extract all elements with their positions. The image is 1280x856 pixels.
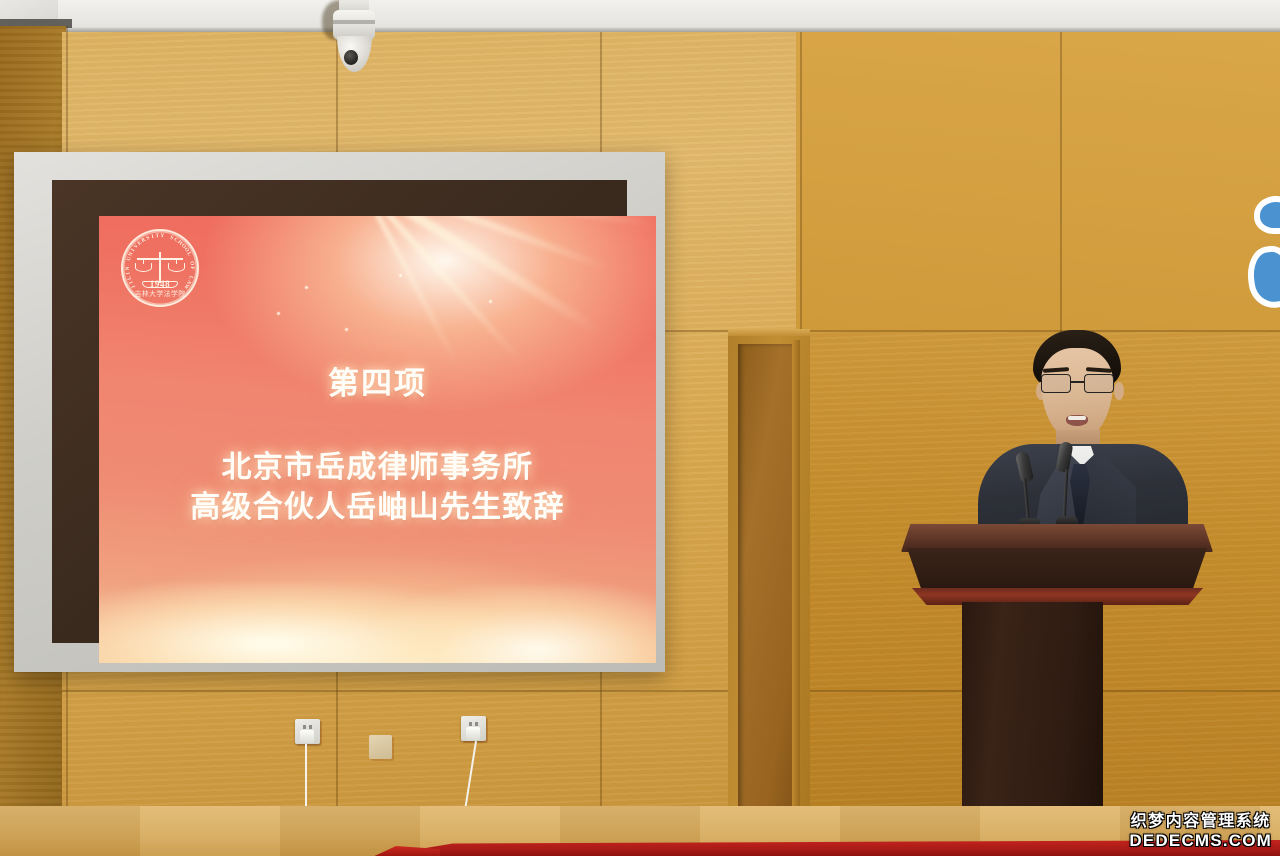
slide-bottom-glow-2 bbox=[329, 585, 656, 663]
slide-logo-year: 1948 bbox=[123, 279, 197, 289]
door-leaf[interactable] bbox=[738, 344, 795, 856]
wall-outlet-left bbox=[295, 719, 320, 744]
wall-right-upper-panel bbox=[796, 32, 1280, 332]
slide-subtitle-line-1: 北京市岳成律师事务所 bbox=[99, 448, 656, 488]
blue-wall-logo bbox=[1248, 196, 1280, 314]
glasses-icon bbox=[1040, 374, 1115, 394]
security-camera bbox=[325, 0, 381, 80]
photo-scene: JILIN UNIVERSITY SCHOOL OF LAW 1948 吉林大学… bbox=[0, 0, 1280, 856]
slide-subtitle: 北京市岳成律师事务所 高级合伙人岳岫山先生致辞 bbox=[99, 448, 656, 528]
wall-blank-plate bbox=[369, 735, 392, 759]
wall-outlet-right bbox=[461, 716, 486, 741]
blue-logo-upper-petal bbox=[1254, 196, 1280, 234]
slide-section-number: 第四项 bbox=[99, 358, 656, 403]
sparkle bbox=[399, 274, 402, 277]
power-plug bbox=[466, 727, 480, 740]
sparkle bbox=[305, 286, 308, 289]
sparkle bbox=[489, 300, 492, 303]
projection-screen-surface: JILIN UNIVERSITY SCHOOL OF LAW 1948 吉林大学… bbox=[99, 216, 656, 663]
slide-law-school-logo: JILIN UNIVERSITY SCHOOL OF LAW 1948 吉林大学… bbox=[121, 229, 199, 307]
camera-lens-icon bbox=[344, 50, 358, 65]
slide-logo-chinese: 吉林大学法学院 bbox=[123, 289, 197, 299]
microphone-neck bbox=[1023, 478, 1030, 522]
microphone-left bbox=[1018, 452, 1048, 536]
projection-screen-frame: JILIN UNIVERSITY SCHOOL OF LAW 1948 吉林大学… bbox=[14, 152, 665, 672]
speaker-face bbox=[1041, 348, 1113, 440]
microphone-right bbox=[1052, 442, 1082, 536]
microphone-neck bbox=[1063, 469, 1069, 521]
projection-screen-bezel: JILIN UNIVERSITY SCHOOL OF LAW 1948 吉林大学… bbox=[52, 180, 627, 643]
light-ray bbox=[394, 216, 603, 336]
speaker-mouth bbox=[1066, 415, 1088, 426]
power-plug bbox=[300, 730, 314, 743]
blue-logo-lower-petal bbox=[1244, 243, 1280, 311]
camera-ring bbox=[333, 20, 375, 24]
door-edge-trim bbox=[792, 340, 800, 856]
light-ray bbox=[419, 216, 609, 271]
podium-top-surface bbox=[901, 524, 1213, 552]
sparkle bbox=[345, 328, 348, 331]
slide-subtitle-line-2: 高级合伙人岳岫山先生致辞 bbox=[99, 488, 656, 528]
wall-seam bbox=[62, 690, 802, 692]
sparkle bbox=[277, 312, 280, 315]
speaker-ear-right bbox=[1114, 382, 1124, 400]
